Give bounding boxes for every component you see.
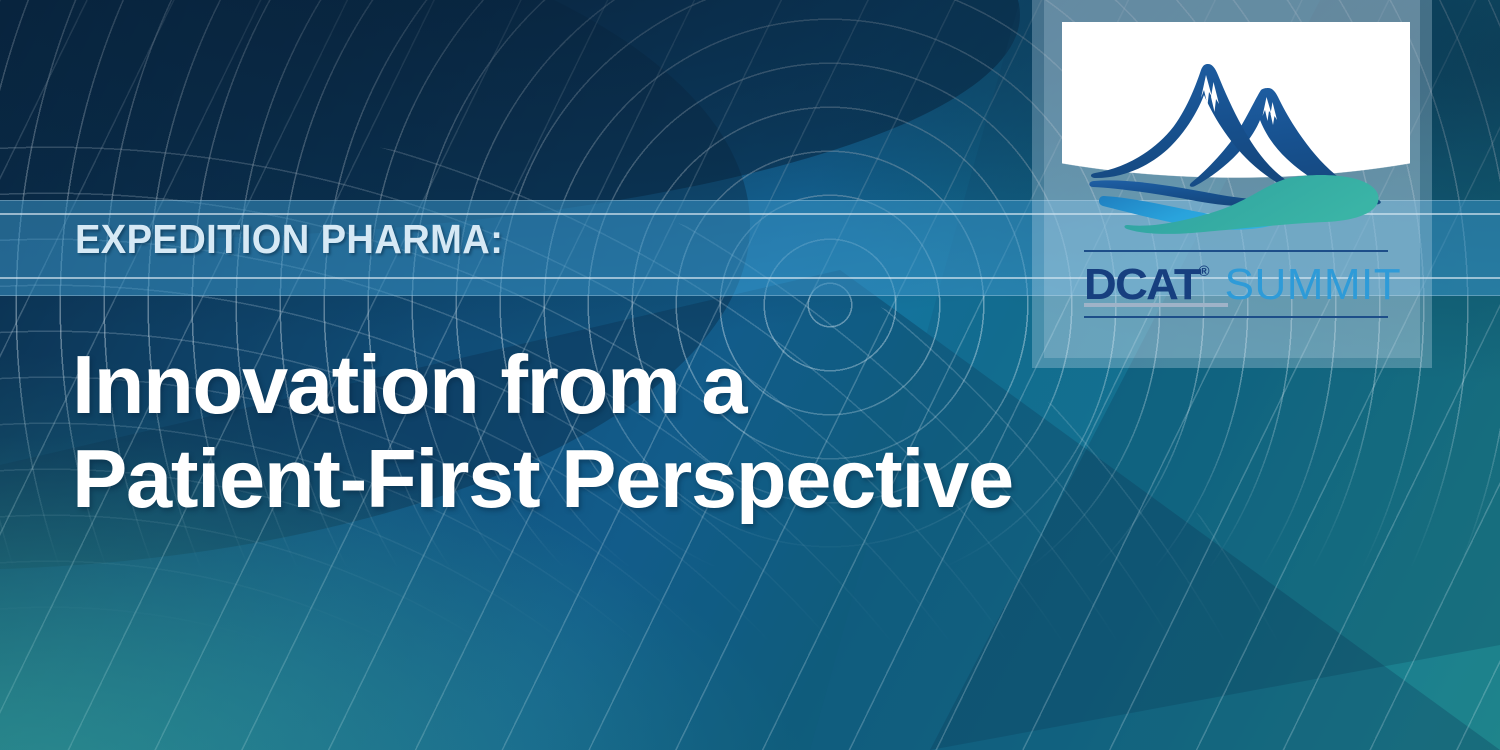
logo-wordmark: DCAT ® SUMMIT — [1084, 258, 1388, 312]
page-title: Innovation from a Patient-First Perspect… — [72, 338, 1013, 526]
logo-dcat-underline — [1084, 303, 1228, 307]
logo-rule-bottom — [1084, 316, 1388, 318]
dcat-summit-logo[interactable]: DCAT ® SUMMIT — [1062, 22, 1410, 334]
mountain-logo-icon — [1082, 54, 1390, 236]
eyebrow-text: EXPEDITION PHARMA: — [75, 219, 503, 260]
registered-trademark-icon: ® — [1199, 263, 1210, 280]
dcat-summit-promo-banner: EXPEDITION PHARMA: Innovation from a Pat… — [0, 0, 1500, 750]
headline-line-2: Patient-First Perspective — [72, 432, 1013, 526]
headline-line-1: Innovation from a — [72, 338, 1013, 432]
wave-teal — [1124, 175, 1378, 234]
logo-rule-top — [1084, 250, 1388, 252]
logo-event-summit: SUMMIT — [1225, 260, 1402, 310]
